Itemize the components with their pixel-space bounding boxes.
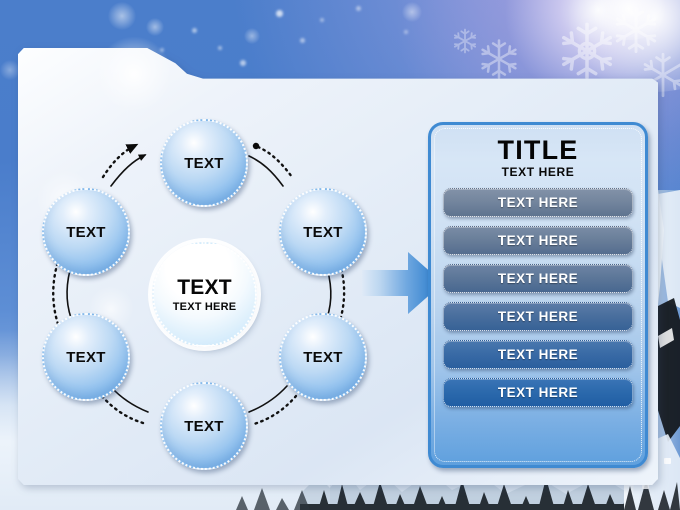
center-node-subtitle: TEXT HERE [173, 301, 237, 313]
panel-bar-label: TEXT HERE [498, 195, 578, 210]
snow-dot [276, 10, 283, 17]
snow-bokeh [402, 2, 422, 22]
diagram-node-lower-left[interactable]: TEXT [42, 313, 130, 401]
snow-dot [192, 28, 197, 33]
node-label: TEXT [303, 349, 343, 366]
panel-title: TITLE [441, 136, 635, 164]
snow-dot [404, 30, 408, 34]
panel-bar-label: TEXT HERE [498, 385, 578, 400]
node-label: TEXT [66, 349, 106, 366]
node-label: TEXT [66, 224, 106, 241]
center-node-title: TEXT [177, 277, 231, 298]
snow-bokeh [244, 28, 260, 44]
diagram-node-upper-left[interactable]: TEXT [42, 188, 130, 276]
panel-bar-label: TEXT HERE [498, 271, 578, 286]
panel-bar-6[interactable]: TEXT HERE [443, 378, 633, 407]
panel-subtitle: TEXT HERE [441, 165, 635, 179]
slide-canvas: TEXT TEXT TEXT TEXT TEXT TEXT TEXT TEXT … [0, 0, 680, 510]
panel-bar-label: TEXT HERE [498, 233, 578, 248]
panel-bar-1[interactable]: TEXT HERE [443, 188, 633, 217]
panel-bar-label: TEXT HERE [498, 347, 578, 362]
snow-dot [320, 18, 324, 22]
snow-bokeh [146, 18, 164, 36]
snow-bokeh [0, 60, 20, 80]
snowflake-icon [612, 6, 660, 54]
node-label: TEXT [184, 155, 224, 172]
node-label: TEXT [303, 224, 343, 241]
panel-bar-label: TEXT HERE [498, 309, 578, 324]
diagram-node-upper-right[interactable]: TEXT [279, 188, 367, 276]
node-label: TEXT [184, 418, 224, 435]
diagram-node-top[interactable]: TEXT [160, 119, 248, 207]
diagram-node-bottom[interactable]: TEXT [160, 382, 248, 470]
diagram-node-lower-right[interactable]: TEXT [279, 313, 367, 401]
summary-panel: TITLE TEXT HERE TEXT HERE TEXT HERE TEXT… [428, 122, 648, 468]
snow-dot [356, 6, 361, 11]
diagram-center-node[interactable]: TEXT TEXT HERE [152, 242, 257, 347]
snow-bokeh [108, 2, 136, 30]
panel-bar-3[interactable]: TEXT HERE [443, 264, 633, 293]
panel-bar-5[interactable]: TEXT HERE [443, 340, 633, 369]
panel-bar-2[interactable]: TEXT HERE [443, 226, 633, 255]
panel-bar-4[interactable]: TEXT HERE [443, 302, 633, 331]
snow-dot [300, 38, 305, 43]
